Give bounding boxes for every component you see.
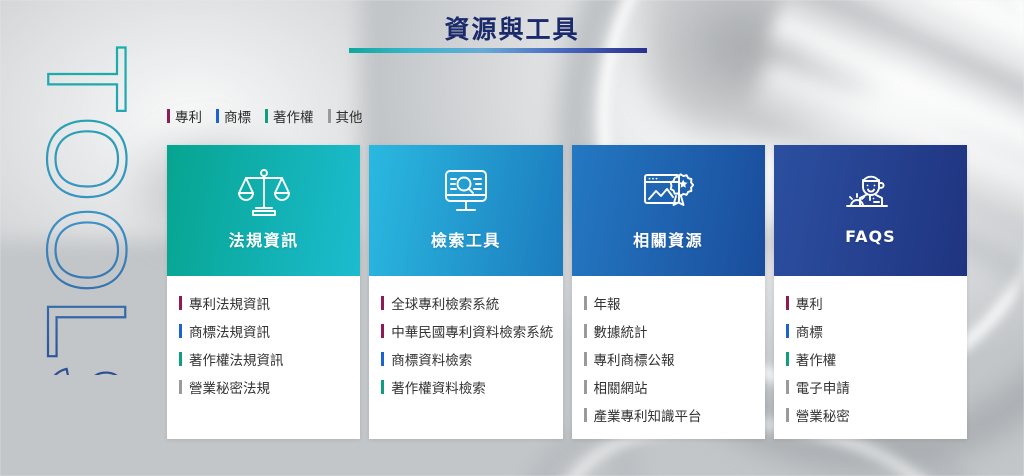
tool-card-title-related-resources: 相關資源 [633,227,703,251]
list-item-label: 著作權 [796,349,837,369]
item-color-bar [584,324,587,338]
tool-card-header-regulations: 法規資訊 [167,145,360,276]
list-item[interactable]: 著作權法規資訊 [179,345,360,373]
list-item[interactable]: 相關網站 [584,373,765,401]
tool-card-list-related-resources: 年報 數據統計 專利商標公報 相關網站 產業專利知識平台 [572,276,765,439]
item-color-bar [179,352,182,366]
legend-label-patent: 專利 [175,106,202,126]
list-item[interactable]: 商標資料檢索 [381,345,562,373]
tool-card-header-related-resources: 相關資源 [572,145,765,276]
list-item-label: 著作權資料檢索 [391,377,486,397]
list-item-label: 專利 [796,293,823,313]
list-item[interactable]: 年報 [584,289,765,317]
legend-item-trademark: 商標 [216,106,251,126]
item-color-bar [381,324,384,338]
tool-card-related-resources[interactable]: 相關資源 年報 數據統計 專利商標公報 相關網站 [572,145,765,439]
legend-color-bar-trademark [216,109,219,123]
list-item-label: 商標法規資訊 [189,321,270,341]
tool-card-title-faqs: FAQS [845,227,896,246]
list-item-label: 中華民國專利資料檢索系統 [391,321,553,341]
tool-card-regulations[interactable]: 法規資訊 專利法規資訊 商標法規資訊 著作權法規資訊 營業秘密法規 [167,145,360,439]
list-item-label: 全球專利檢索系統 [391,293,499,313]
list-item[interactable]: 電子申請 [786,373,967,401]
list-item[interactable]: 商標法規資訊 [179,317,360,345]
list-item[interactable]: 著作權資料檢索 [381,373,562,401]
list-item-label: 電子申請 [796,377,850,397]
list-item[interactable]: 數據統計 [584,317,765,345]
list-item-label: 相關網站 [594,377,648,397]
item-color-bar [179,324,182,338]
list-item-label: 專利商標公報 [594,349,675,369]
item-color-bar [786,408,789,422]
item-color-bar [381,380,384,394]
list-item[interactable]: 營業秘密法規 [179,373,360,401]
list-item[interactable]: 商標 [786,317,967,345]
list-item-label: 營業秘密法規 [189,377,270,397]
item-color-bar [179,296,182,310]
list-item[interactable]: 著作權 [786,345,967,373]
resources-and-tools-page: TOOLS 資源與工具 專利 商標 著作權 其他 [0,0,1024,476]
list-item-label: 營業秘密 [796,405,850,425]
item-color-bar [584,380,587,394]
legend-color-bar-copyright [265,109,268,123]
legend-label-copyright: 著作權 [273,106,314,126]
list-item-label: 年報 [594,293,621,313]
page-title: 資源與工具 [0,10,1024,46]
list-item[interactable]: 產業專利知識平台 [584,401,765,429]
item-color-bar [584,408,587,422]
tool-card-list-regulations: 專利法規資訊 商標法規資訊 著作權法規資訊 營業秘密法規 [167,276,360,439]
list-item-label: 數據統計 [594,321,648,341]
item-color-bar [786,324,789,338]
tool-card-faqs[interactable]: FAQS 專利 商標 著作權 電子申請 [774,145,967,439]
legend-item-patent: 專利 [167,106,202,126]
legend-color-bar-other [328,109,331,123]
legend-label-other: 其他 [336,106,363,126]
list-item-label: 商標 [796,321,823,341]
item-color-bar [584,352,587,366]
item-color-bar [786,352,789,366]
category-legend: 專利 商標 著作權 其他 [167,106,363,126]
item-color-bar [584,296,587,310]
list-item[interactable]: 專利商標公報 [584,345,765,373]
legend-label-trademark: 商標 [224,106,251,126]
list-item[interactable]: 中華民國專利資料檢索系統 [381,317,562,345]
legend-item-copyright: 著作權 [265,106,314,126]
tool-card-grid: 法規資訊 專利法規資訊 商標法規資訊 著作權法規資訊 營業秘密法規 [167,145,967,439]
monitor-search-icon [438,163,494,221]
list-item-label: 商標資料檢索 [391,349,472,369]
item-color-bar [381,352,384,366]
list-item[interactable]: 營業秘密 [786,401,967,429]
scales-of-justice-icon [236,163,292,221]
item-color-bar [179,380,182,394]
list-item[interactable]: 專利 [786,289,967,317]
support-agent-icon [842,163,898,221]
list-item[interactable]: 全球專利檢索系統 [381,289,562,317]
title-underline [349,48,647,53]
legend-color-bar-patent [167,109,170,123]
legend-item-other: 其他 [328,106,363,126]
list-item-label: 產業專利知識平台 [594,405,702,425]
tool-card-header-search-tools: 檢索工具 [369,145,562,276]
tool-card-title-search-tools: 檢索工具 [431,227,501,251]
tool-card-list-faqs: 專利 商標 著作權 電子申請 營業秘密 [774,276,967,439]
tool-card-search-tools[interactable]: 檢索工具 全球專利檢索系統 中華民國專利資料檢索系統 商標資料檢索 著作權資料 [369,145,562,439]
tool-card-title-regulations: 法規資訊 [229,227,299,251]
browser-award-icon [640,163,696,221]
list-item[interactable]: 專利法規資訊 [179,289,360,317]
item-color-bar [381,296,384,310]
item-color-bar [786,380,789,394]
tool-card-list-search-tools: 全球專利檢索系統 中華民國專利資料檢索系統 商標資料檢索 著作權資料檢索 [369,276,562,439]
list-item-label: 專利法規資訊 [189,293,270,313]
list-item-label: 著作權法規資訊 [189,349,284,369]
tool-card-header-faqs: FAQS [774,145,967,276]
item-color-bar [786,296,789,310]
